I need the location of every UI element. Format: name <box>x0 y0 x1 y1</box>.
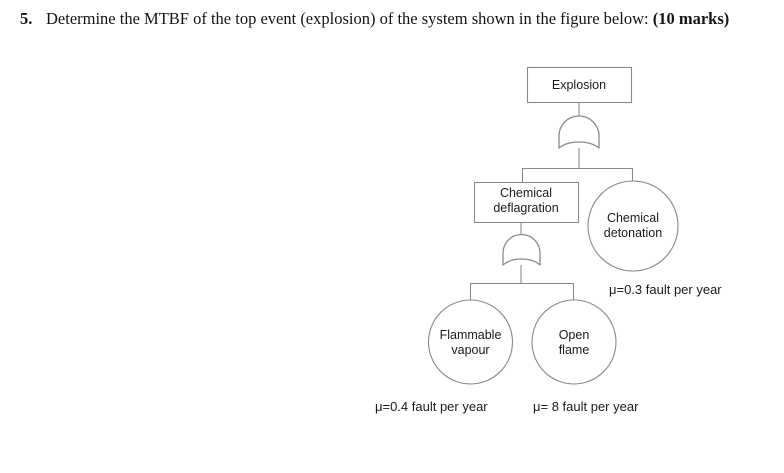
rate-open-flame: μ= 8 fault per year <box>533 399 639 414</box>
basic-event-open-flame: Open flame <box>532 300 616 384</box>
top-event-label: Explosion <box>552 78 606 92</box>
distribution-bar-level-1 <box>522 169 633 183</box>
rate-flammable-vapour: μ=0.4 fault per year <box>375 399 488 414</box>
intermediate-event-chemical-deflagration: Chemical deflagration <box>475 183 579 223</box>
open-flame-label-line2: flame <box>559 343 590 357</box>
distribution-bar-level-2 <box>470 284 574 301</box>
open-flame-label-line1: Open <box>559 328 590 342</box>
basic-event-chemical-detonation: Chemical detonation <box>588 181 678 271</box>
basic-event-flammable-vapour: Flammable vapour <box>429 300 513 384</box>
chemical-deflagration-label-line2: deflagration <box>493 201 558 215</box>
or-gate-top <box>559 116 599 148</box>
top-event-explosion: Explosion <box>528 68 632 103</box>
chemical-detonation-label-line2: detonation <box>604 226 662 240</box>
fault-tree-diagram: Explosion Chemical deflagration Chemical… <box>0 0 784 473</box>
flammable-vapour-label-line2: vapour <box>451 343 489 357</box>
flammable-vapour-label-line1: Flammable <box>440 328 502 342</box>
chemical-detonation-label-line1: Chemical <box>607 211 659 225</box>
or-gate-mid <box>503 235 540 265</box>
chemical-deflagration-label-line1: Chemical <box>500 186 552 200</box>
rate-chemical-detonation: μ=0.3 fault per year <box>609 282 722 297</box>
